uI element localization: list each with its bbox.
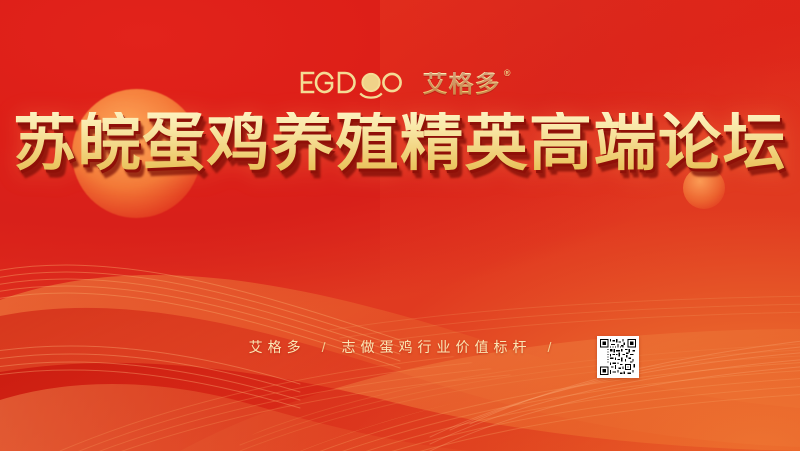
tagline-separator-1: / xyxy=(322,340,326,354)
brand-chinese-name: 艾格多 ® xyxy=(422,72,500,97)
brand-logo: 艾格多 ® xyxy=(0,62,800,106)
qr-code[interactable] xyxy=(597,336,639,378)
tagline: 艾格多 / 志做蛋鸡行业价值标杆 / xyxy=(0,340,800,354)
tagline-slogan: 志做蛋鸡行业价值标杆 xyxy=(342,340,532,354)
tagline-separator-2: / xyxy=(548,340,552,354)
tagline-brand: 艾格多 xyxy=(249,340,306,354)
registered-trademark-icon: ® xyxy=(504,69,512,78)
page-title: 苏皖蛋鸡养殖精英高端论坛 xyxy=(0,112,800,175)
brand-chinese-text: 艾格多 xyxy=(422,70,500,98)
event-poster: 艾格多 ® 苏皖蛋鸡养殖精英高端论坛 艾格多 / 志做蛋鸡行业价值标杆 / xyxy=(0,0,800,451)
egdoo-wordmark-icon xyxy=(299,67,411,101)
